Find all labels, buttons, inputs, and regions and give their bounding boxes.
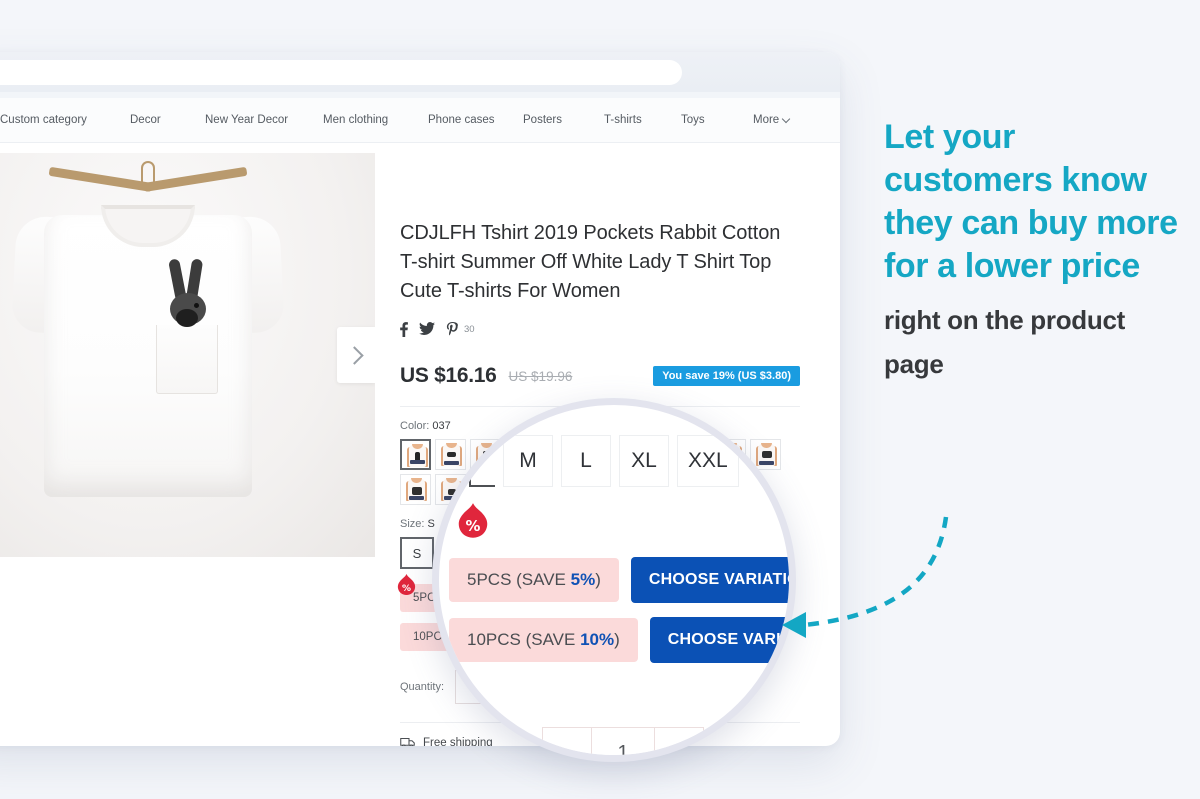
size-value: S <box>428 518 435 530</box>
nav-label: Toys <box>681 114 705 126</box>
chevron-right-icon <box>345 346 363 364</box>
magnified-quantity-decrease-button[interactable]: − <box>542 727 592 762</box>
nav-label: T-shirts <box>604 114 642 126</box>
magnified-size-option-xl[interactable]: XL <box>619 435 669 487</box>
magnified-bulk-row: 10PCS (SAVE 10%) CHOOSE VARIATIONS <box>449 617 796 663</box>
magnified-quantity-increase-button[interactable]: + <box>654 727 704 762</box>
facebook-icon[interactable] <box>400 322 408 337</box>
nav-label: More <box>753 114 779 126</box>
magnified-bulk-chip: 10PCS (SAVE 10%) <box>449 618 638 662</box>
size-option-s[interactable]: S <box>400 537 434 569</box>
chevron-down-icon <box>783 116 791 124</box>
size-label-text: Size: <box>400 518 424 530</box>
category-nav-list: Custom category Decor New Year Decor Men… <box>0 98 791 142</box>
tshirt-body <box>44 215 252 497</box>
pinterest-count: 30 <box>464 324 475 335</box>
color-swatch[interactable] <box>400 439 431 470</box>
nav-item-posters[interactable]: Posters <box>523 114 604 126</box>
curved-dashed-arrow-left-icon <box>770 495 970 655</box>
savings-badge: You save 19% (US $3.80) <box>653 366 800 386</box>
rabbit-face <box>176 309 198 327</box>
nav-item-phone-cases[interactable]: Phone cases <box>428 114 523 126</box>
gallery-next-button[interactable] <box>337 327 375 383</box>
nav-item-new-year-decor[interactable]: New Year Decor <box>205 114 323 126</box>
bulk-chip-prefix: 5PCS (SAVE <box>467 570 571 589</box>
tshirt-shape <box>14 197 282 497</box>
screenshot-stage: Custom category Decor New Year Decor Men… <box>0 0 1200 799</box>
bulk-chip-value: 5% <box>571 570 596 589</box>
bulk-chip-value: 10% <box>580 630 614 649</box>
nav-label: Decor <box>130 114 161 126</box>
svg-text:%: % <box>402 584 411 594</box>
magnified-quantity-input[interactable]: 1 <box>591 727 655 762</box>
magnified-size-options: M L XL XXL <box>469 435 739 487</box>
price-row: US $16.16 US $19.96 You save 19% (US $3.… <box>400 363 800 389</box>
nav-label: Men clothing <box>323 114 388 126</box>
rabbit-eye <box>194 303 199 308</box>
product-image <box>0 153 375 557</box>
size-option-s-partial[interactable] <box>469 447 495 487</box>
fire-percent-icon: % <box>397 574 416 597</box>
pinterest-icon[interactable] <box>446 322 459 337</box>
current-price: US $16.16 <box>400 364 497 388</box>
fire-percent-icon: % <box>457 503 489 541</box>
svg-text:%: % <box>466 517 481 535</box>
magnified-quantity-label: Quantity: <box>461 743 529 762</box>
product-gallery <box>0 153 375 557</box>
nav-label: Custom category <box>0 114 87 126</box>
nav-item-men-clothing[interactable]: Men clothing <box>323 114 428 126</box>
nav-item-t-shirts[interactable]: T-shirts <box>604 114 681 126</box>
bulk-chip-suffix: ) <box>595 570 601 589</box>
nav-item-decor[interactable]: Decor <box>130 114 205 126</box>
magnified-bulk-row: 5PCS (SAVE 5%) CHOOSE VARIATIONS <box>449 557 796 603</box>
magnified-quantity-row: Quantity: − 1 + In Sto <box>461 727 781 762</box>
category-navigation: Custom category Decor New Year Decor Men… <box>0 98 840 143</box>
marketing-copy: Let your customers know they can buy mor… <box>884 116 1184 386</box>
magnified-size-option-l[interactable]: L <box>561 435 611 487</box>
quantity-label: Quantity: <box>400 681 444 693</box>
nav-label: Phone cases <box>428 114 495 126</box>
marketing-subline: right on the product page <box>884 298 1184 386</box>
truck-icon <box>400 737 415 746</box>
social-share-bar: 30 <box>400 321 800 337</box>
bulk-chip-prefix: 10PCS (SAVE <box>467 630 580 649</box>
product-title: CDJLFH Tshirt 2019 Pockets Rabbit Cotton… <box>400 219 800 306</box>
magnified-stock-status: In Sto <box>718 739 781 762</box>
nav-item-toys[interactable]: Toys <box>681 114 753 126</box>
magnified-size-option-m[interactable]: M <box>503 435 553 487</box>
magnified-size-option-xxl[interactable]: XXL <box>677 435 739 487</box>
tshirt-pocket <box>156 325 218 394</box>
rabbit-print-icon <box>160 259 216 335</box>
bulk-chip-suffix: ) <box>614 630 620 649</box>
magnified-bulk-chip: 5PCS (SAVE 5%) <box>449 558 619 602</box>
magnified-bulk-discounts: 5PCS (SAVE 5%) CHOOSE VARIATIONS 10PCS (… <box>449 557 796 677</box>
color-label-text: Color: <box>400 420 429 432</box>
magnified-quantity-stepper: − 1 + <box>543 727 704 762</box>
nav-item-custom-category[interactable]: Custom category <box>0 114 130 126</box>
nav-label: Posters <box>523 114 562 126</box>
address-bar[interactable] <box>0 60 682 85</box>
browser-chrome-bar <box>0 52 840 92</box>
marketing-headline: Let your customers know they can buy mor… <box>884 116 1184 288</box>
magnifier-content: M L XL XXL % 5PCS (SAVE 5%) CHOOSE VARIA… <box>439 405 789 755</box>
original-price: US $19.96 <box>509 369 573 384</box>
color-swatch[interactable] <box>400 474 431 505</box>
nav-label: New Year Decor <box>205 114 288 126</box>
twitter-icon[interactable] <box>419 322 435 336</box>
nav-item-more[interactable]: More <box>753 114 791 126</box>
magnifier-lens: M L XL XXL % 5PCS (SAVE 5%) CHOOSE VARIA… <box>432 398 796 762</box>
